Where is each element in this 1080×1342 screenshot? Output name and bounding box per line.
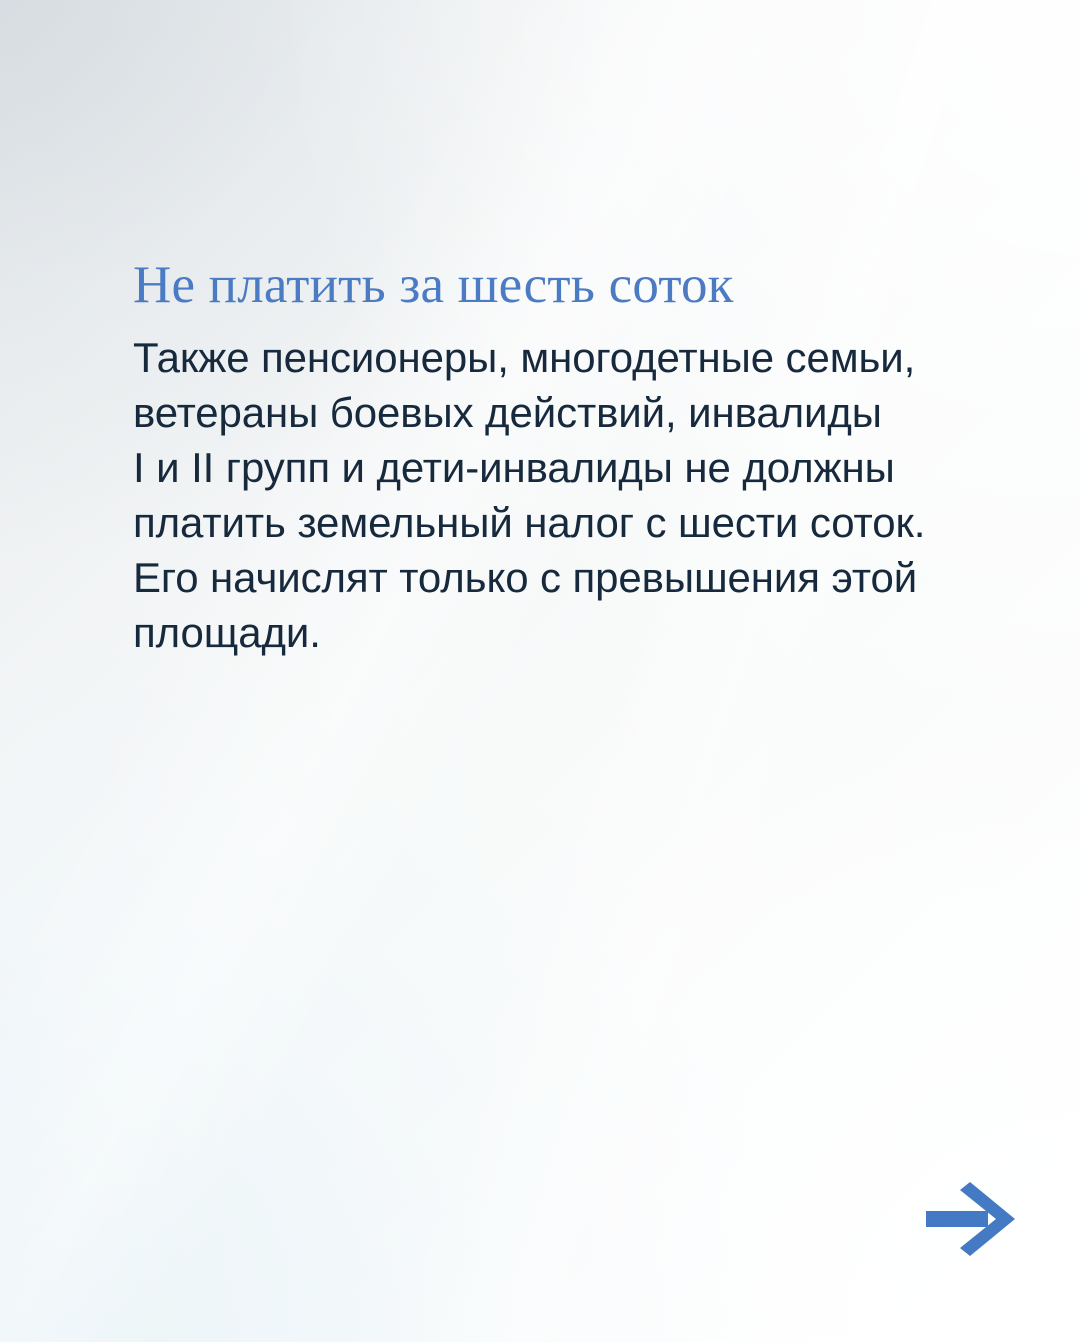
arrow-right-icon bbox=[924, 1180, 1020, 1258]
next-slide-button[interactable] bbox=[924, 1180, 1020, 1258]
slide-headline: Не платить за шесть соток bbox=[133, 254, 1033, 316]
slide-body-text: Также пенсионеры, многодетные семьи, вет… bbox=[133, 330, 1033, 660]
background-top-right-wash bbox=[0, 0, 1080, 1342]
background-light-streaks bbox=[0, 0, 1080, 1342]
background-bottom-right-wash bbox=[0, 0, 1080, 1342]
slide-canvas: Не платить за шесть соток Также пенсионе… bbox=[0, 0, 1080, 1342]
body-line: платить земельный налог с шести соток. bbox=[133, 495, 1033, 550]
body-line: ветераны боевых действий, инвалиды bbox=[133, 385, 1033, 440]
body-line: I и II групп и дети-инвалиды не должны bbox=[133, 440, 1033, 495]
body-line: Также пенсионеры, многодетные семьи, bbox=[133, 330, 1033, 385]
background-bottom-left-wash bbox=[0, 0, 1080, 1342]
body-line: площади. bbox=[133, 605, 1033, 660]
body-line: Его начислят только с превышения этой bbox=[133, 550, 1033, 605]
background-top-left-wash bbox=[0, 0, 1080, 1342]
slide-content: Не платить за шесть соток Также пенсионе… bbox=[133, 254, 1033, 660]
background-base-gradient bbox=[0, 0, 1080, 1342]
